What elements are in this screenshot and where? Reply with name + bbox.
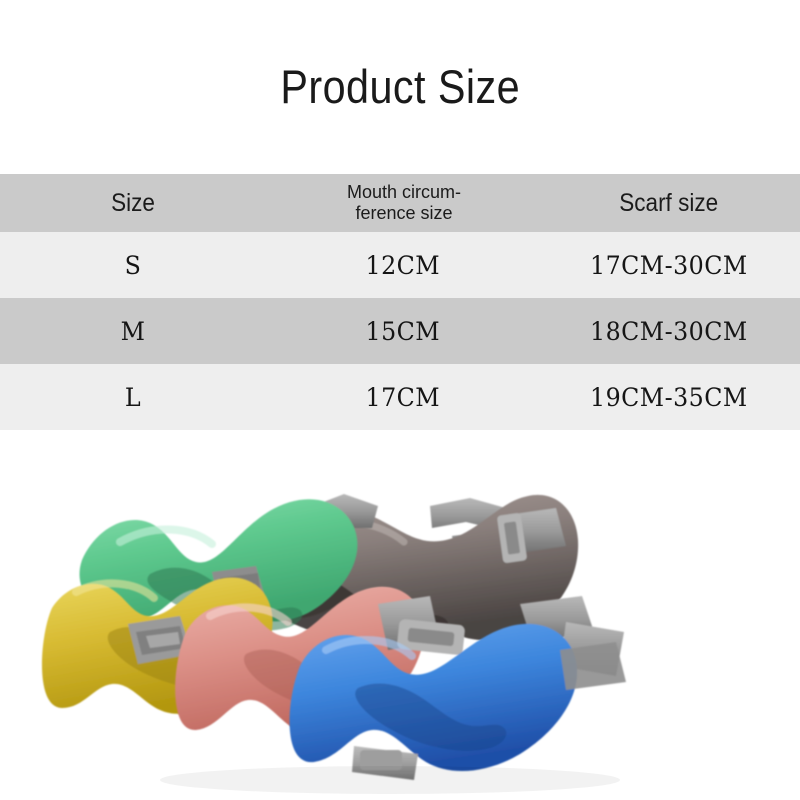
value-scarf-m: 18CM-30CM (539, 317, 794, 346)
cell-scarf: 18CM-30CM (532, 298, 800, 364)
cell-scarf: 19CM-35CM (532, 364, 800, 430)
value-size-m: M (7, 317, 260, 346)
cell-scarf: 17CM-30CM (532, 232, 800, 298)
value-mouth-s: 12CM (273, 251, 526, 280)
table-row: L 17CM 19CM-35CM (0, 364, 800, 430)
table-row: S 12CM 17CM-30CM (0, 232, 800, 298)
table-header-cell-size: Size (0, 174, 266, 232)
header-label-mouth-circumference: Mouth circum- ference size (266, 182, 532, 224)
value-size-l: L (7, 383, 260, 412)
table-header-cell-scarf: Scarf size (532, 174, 800, 232)
cell-size: L (0, 364, 266, 430)
page-title: Product Size (280, 59, 520, 114)
product-photo-illustration (0, 436, 800, 800)
table-header-cell-mouth: Mouth circum- ference size (266, 174, 532, 232)
value-scarf-s: 17CM-30CM (539, 251, 794, 280)
value-mouth-m: 15CM (273, 317, 526, 346)
product-photo (0, 436, 800, 800)
header-label-size: Size (13, 189, 252, 218)
page-title-block: Product Size (0, 0, 800, 172)
cell-mouth: 17CM (266, 364, 532, 430)
value-size-s: S (7, 251, 260, 280)
header-label-scarf-size: Scarf size (545, 189, 786, 218)
product-size-page: Product Size Size Mouth circum- ference … (0, 0, 800, 800)
table-header-row: Size Mouth circum- ference size Scarf si… (0, 174, 800, 232)
cell-mouth: 12CM (266, 232, 532, 298)
cell-size: S (0, 232, 266, 298)
size-table: Size Mouth circum- ference size Scarf si… (0, 174, 800, 430)
table-row: M 15CM 18CM-30CM (0, 298, 800, 364)
photo-ground-shadow (160, 766, 620, 794)
value-scarf-l: 19CM-35CM (539, 383, 794, 412)
cell-mouth: 15CM (266, 298, 532, 364)
cell-size: M (0, 298, 266, 364)
value-mouth-l: 17CM (273, 383, 526, 412)
